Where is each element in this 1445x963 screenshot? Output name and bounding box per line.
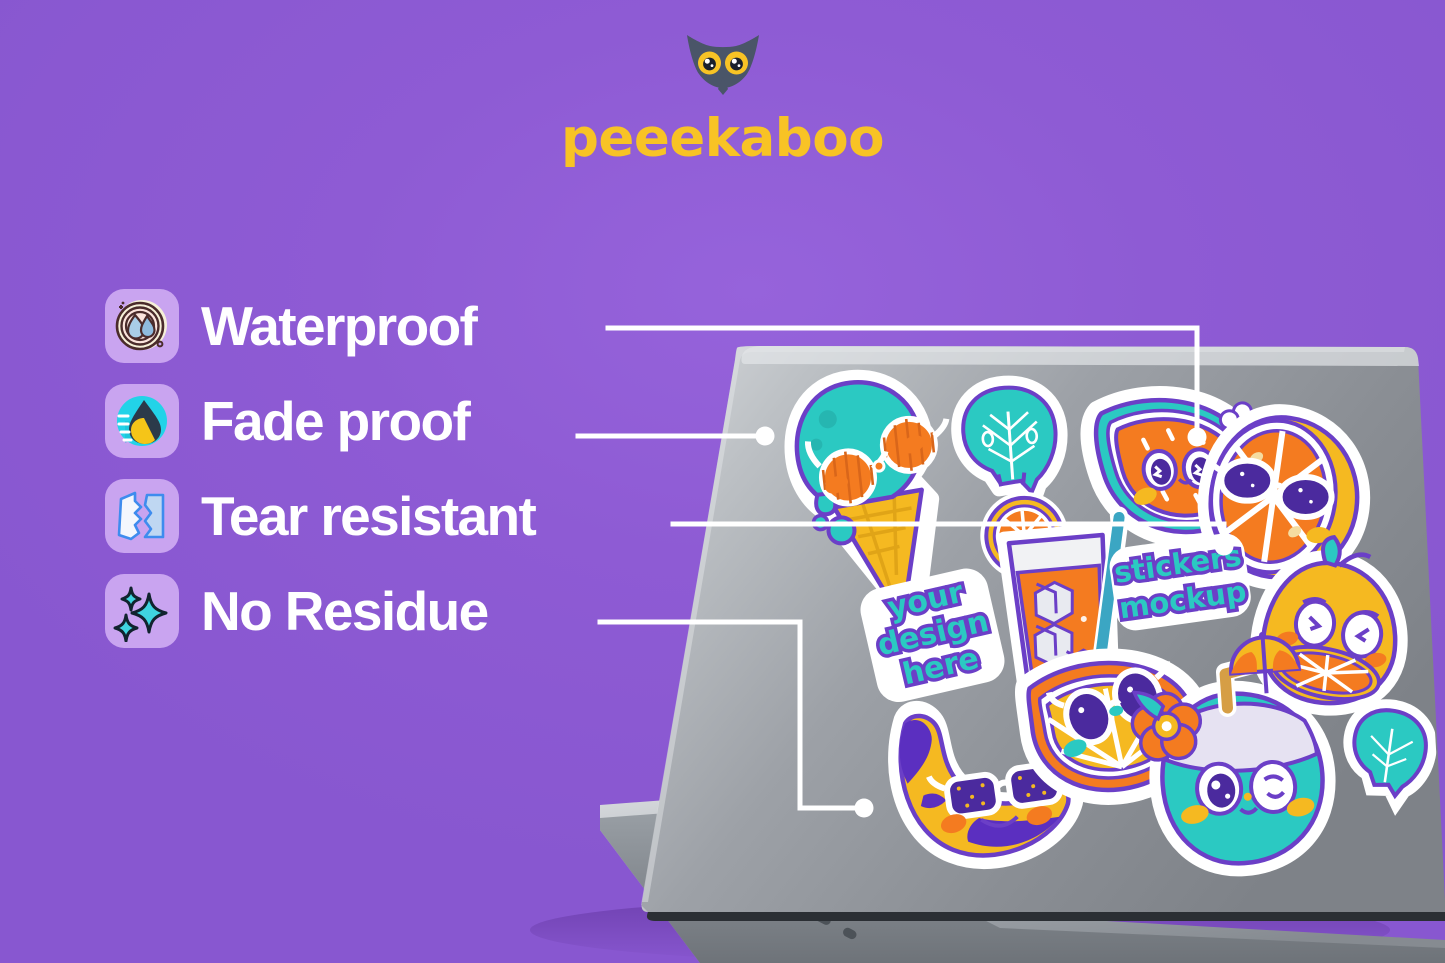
feature-item-fade-proof[interactable]: Fade proof [105, 382, 535, 460]
feature-label-fade-proof: Fade proof [201, 394, 469, 449]
feature-label-waterproof: Waterproof [201, 299, 476, 354]
feature-item-no-residue[interactable]: No Residue [105, 572, 535, 650]
ink-droplet-fade-icon [111, 390, 173, 452]
feature-item-waterproof[interactable]: Waterproof [105, 287, 535, 365]
feature-badge-fade-proof [105, 384, 179, 458]
feature-badge-waterproof [105, 289, 179, 363]
feature-label-tear-resistant: Tear resistant [201, 489, 535, 544]
feature-list: Waterproof Fade proof [105, 287, 535, 650]
feature-item-tear-resistant[interactable]: Tear resistant [105, 477, 535, 555]
feature-label-no-residue: No Residue [201, 584, 488, 639]
feature-badge-tear-resistant [105, 479, 179, 553]
water-droplet-ripple-icon [111, 295, 173, 357]
feature-badge-no-residue [105, 574, 179, 648]
sparkles-icon [111, 580, 173, 642]
torn-paper-icon [111, 485, 173, 547]
poster-canvas: peeekaboo [0, 0, 1445, 963]
